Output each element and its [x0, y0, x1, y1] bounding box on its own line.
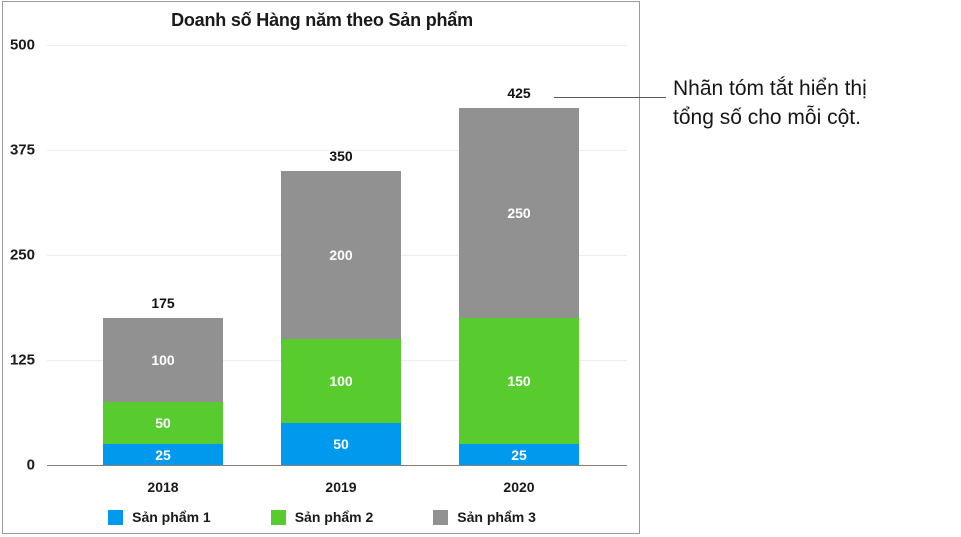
legend-swatch-icon-san-pham-1: [108, 510, 123, 525]
bar-segment-2019-san-pham-2[interactable]: 100: [281, 339, 401, 423]
bar-group-2018[interactable]: 175 100 50 25: [103, 318, 223, 465]
chart-frame: Doanh số Hàng năm theo Sản phẩm 500 375 …: [2, 1, 640, 534]
legend-label-san-pham-2: Sản phẩm 2: [295, 509, 374, 525]
bar-group-2019[interactable]: 350 200 100 50: [281, 171, 401, 465]
callout-leader-line: [554, 97, 666, 98]
legend-item-san-pham-3[interactable]: Sản phẩm 3: [433, 509, 536, 525]
bar-segment-2019-san-pham-1[interactable]: 50: [281, 423, 401, 465]
bar-segment-2020-san-pham-3[interactable]: 250: [459, 108, 579, 318]
gridline-500: [47, 45, 627, 46]
bar-total-label-2018: 175: [103, 295, 223, 311]
y-axis-tick-250: 250: [0, 247, 35, 264]
bar-segment-2020-san-pham-2[interactable]: 150: [459, 318, 579, 444]
legend-label-san-pham-1: Sản phẩm 1: [132, 509, 211, 525]
callout-annotation: Nhãn tóm tắt hiển thị tổng số cho mỗi cộ…: [673, 74, 953, 132]
legend-item-san-pham-1[interactable]: Sản phẩm 1: [108, 509, 211, 525]
bar-segment-2019-san-pham-3[interactable]: 200: [281, 171, 401, 339]
x-axis-label-2020: 2020: [459, 479, 579, 495]
bar-segment-2018-san-pham-1[interactable]: 25: [103, 444, 223, 465]
x-axis-label-2018: 2018: [103, 479, 223, 495]
y-axis-tick-375: 375: [0, 142, 35, 159]
bar-total-label-2020: 425: [459, 85, 579, 101]
chart-legend: Sản phẩm 1 Sản phẩm 2 Sản phẩm 3: [3, 509, 641, 525]
y-axis-tick-125: 125: [0, 352, 35, 369]
y-axis-tick-500: 500: [0, 37, 35, 54]
bar-total-label-2019: 350: [281, 148, 401, 164]
legend-label-san-pham-3: Sản phẩm 3: [457, 509, 536, 525]
callout-annotation-line-1: Nhãn tóm tắt hiển thị: [673, 74, 953, 103]
bar-segment-2020-san-pham-1[interactable]: 25: [459, 444, 579, 465]
bar-group-2020[interactable]: 425 250 150 25: [459, 108, 579, 465]
chart-title: Doanh số Hàng năm theo Sản phẩm: [3, 10, 641, 31]
plot-area: 175 100 50 25 350 200 100 50 425 250 150…: [47, 45, 627, 465]
legend-item-san-pham-2[interactable]: Sản phẩm 2: [271, 509, 374, 525]
callout-annotation-line-2: tổng số cho mỗi cột.: [673, 103, 953, 132]
x-axis-label-2019: 2019: [281, 479, 401, 495]
legend-swatch-icon-san-pham-2: [271, 510, 286, 525]
bar-segment-2018-san-pham-2[interactable]: 50: [103, 402, 223, 444]
y-axis-tick-0: 0: [0, 457, 35, 474]
chart-screenshot: Doanh số Hàng năm theo Sản phẩm 500 375 …: [0, 0, 961, 537]
x-axis-baseline: [47, 465, 627, 466]
legend-swatch-icon-san-pham-3: [433, 510, 448, 525]
bar-segment-2018-san-pham-3[interactable]: 100: [103, 318, 223, 402]
